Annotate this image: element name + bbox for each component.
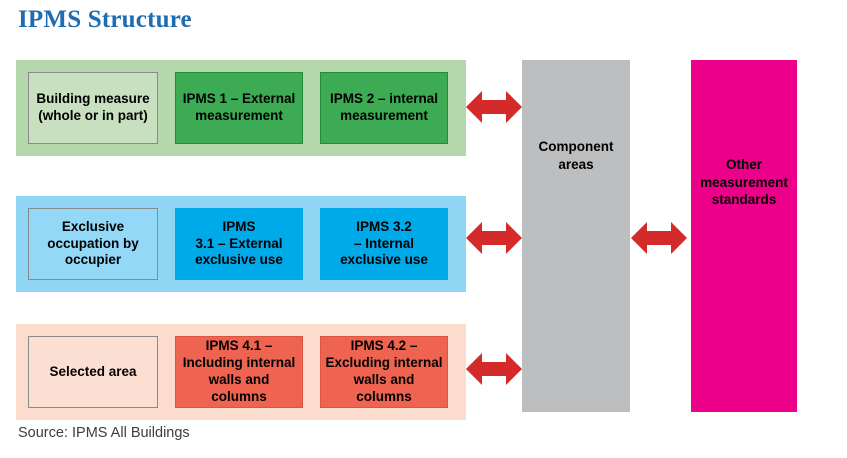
- double-arrow-icon: [466, 85, 522, 129]
- double-arrow-icon: [631, 216, 687, 260]
- source-caption: Source: IPMS All Buildings: [18, 425, 190, 441]
- box-ipms-3-1[interactable]: IPMS 3.1 – External exclusive use: [175, 208, 303, 280]
- double-arrow-icon: [466, 347, 522, 391]
- box-ipms-4-2[interactable]: IPMS 4.2 – Excluding internal walls and …: [320, 336, 448, 408]
- box-exclusive-occupation-label: Exclusive occupation by occupier: [47, 219, 139, 270]
- page-title: IPMS Structure: [18, 6, 192, 34]
- box-ipms-1-label: IPMS 1 – External measurement: [183, 91, 296, 125]
- box-ipms-2[interactable]: IPMS 2 – internal measurement: [320, 72, 448, 144]
- box-ipms-3-2-label: IPMS 3.2 – Internal exclusive use: [340, 219, 428, 270]
- column-component-areas-label: Component areas: [539, 138, 614, 173]
- column-other-measurement-standards[interactable]: Other measurement standards: [691, 60, 797, 412]
- box-ipms-3-2[interactable]: IPMS 3.2 – Internal exclusive use: [320, 208, 448, 280]
- box-ipms-4-2-label: IPMS 4.2 – Excluding internal walls and …: [325, 338, 443, 406]
- box-selected-area[interactable]: Selected area: [28, 336, 158, 408]
- box-selected-area-label: Selected area: [49, 364, 136, 381]
- diagram-canvas: IPMS Structure Building measure (whole o…: [0, 0, 847, 458]
- row-band-selected: Selected area IPMS 4.1 – Including inter…: [16, 324, 466, 420]
- row-band-exclusive: Exclusive occupation by occupier IPMS 3.…: [16, 196, 466, 292]
- box-building-measure-label: Building measure (whole or in part): [36, 91, 149, 125]
- box-ipms-3-1-label: IPMS 3.1 – External exclusive use: [195, 219, 283, 270]
- box-ipms-1[interactable]: IPMS 1 – External measurement: [175, 72, 303, 144]
- box-building-measure[interactable]: Building measure (whole or in part): [28, 72, 158, 144]
- box-ipms-2-label: IPMS 2 – internal measurement: [330, 91, 438, 125]
- double-arrow-icon: [466, 216, 522, 260]
- column-component-areas[interactable]: Component areas: [522, 60, 630, 412]
- row-band-building: Building measure (whole or in part) IPMS…: [16, 60, 466, 156]
- box-exclusive-occupation[interactable]: Exclusive occupation by occupier: [28, 208, 158, 280]
- box-ipms-4-1[interactable]: IPMS 4.1 – Including internal walls and …: [175, 336, 303, 408]
- column-other-measurement-standards-label: Other measurement standards: [700, 156, 788, 209]
- box-ipms-4-1-label: IPMS 4.1 – Including internal walls and …: [180, 338, 298, 406]
